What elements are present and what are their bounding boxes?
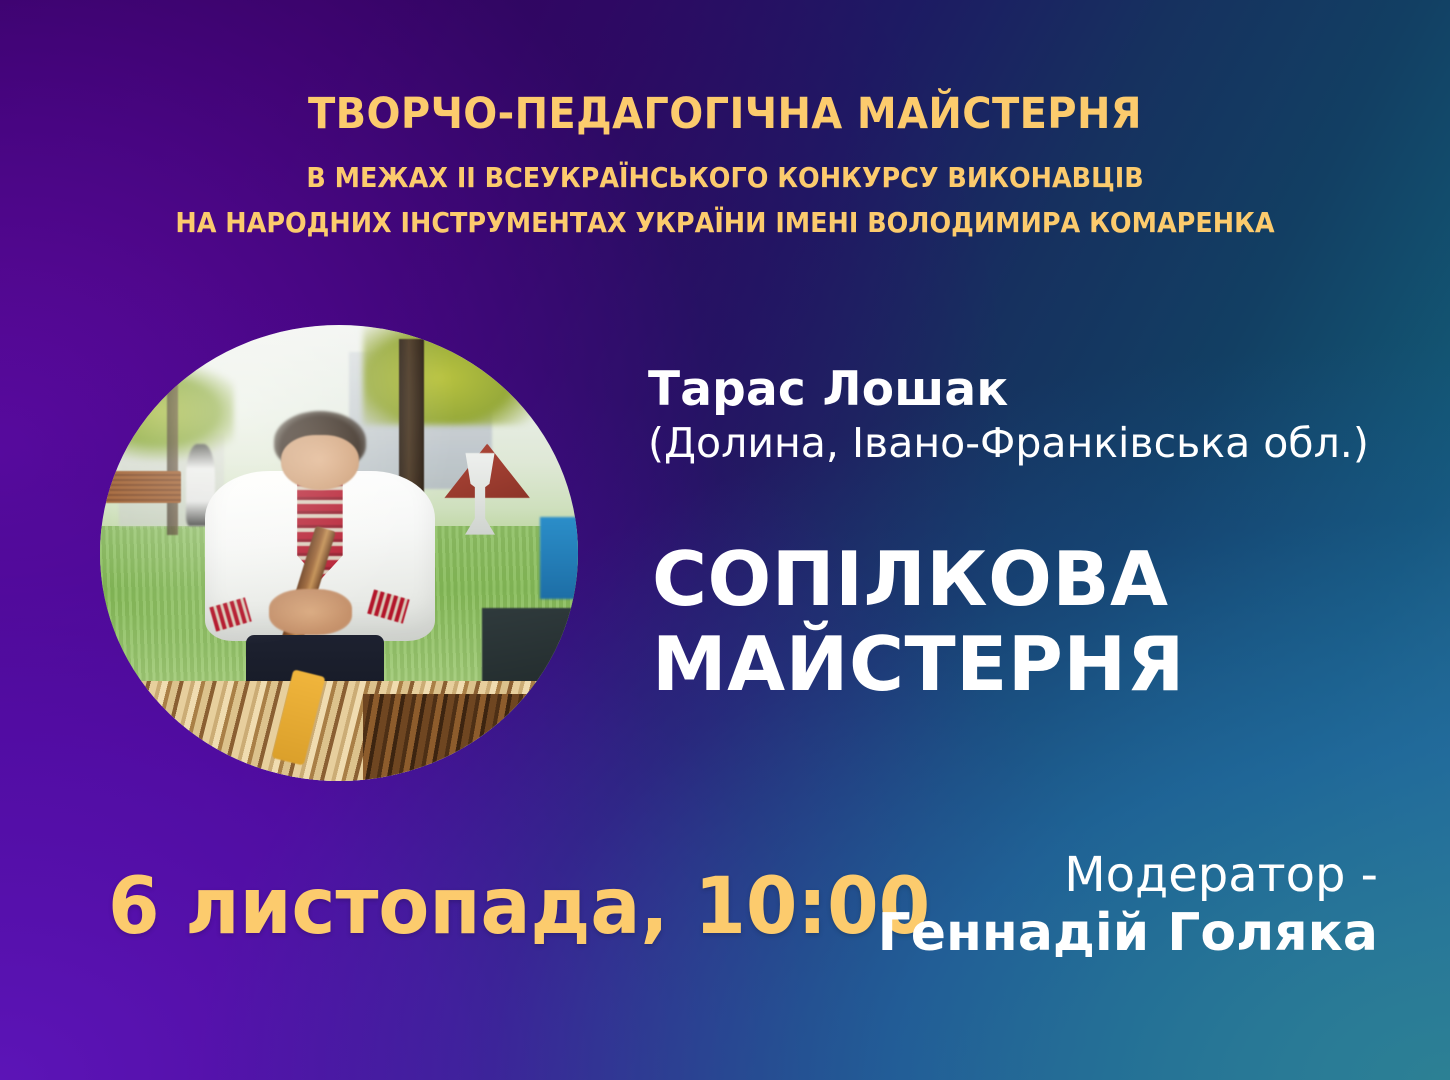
event-poster: ТВОРЧО-ПЕДАГОГІЧНА МАЙСТЕРНЯ В МЕЖАХ ІІ … <box>0 0 1450 1080</box>
workshop-title: СОПІЛКОВА МАЙСТЕРНЯ <box>652 537 1412 707</box>
speaker-portrait <box>100 325 578 781</box>
speaker-city: (Долина, Івано-Франківська обл.) <box>648 422 1408 465</box>
moderator-name: Геннадій Голяка <box>878 904 1378 962</box>
photo-face <box>281 435 359 490</box>
speaker-name: Тарас Лошак <box>648 366 1408 413</box>
subtitle-line-2: НА НАРОДНИХ ІНСТРУМЕНТАХ УКРАЇНИ ІМЕНІ В… <box>120 206 1330 240</box>
moderator-label: Модератор - <box>878 850 1378 902</box>
workshop-title-line-2: МАЙСТЕРНЯ <box>652 622 1412 707</box>
photo-park-bench <box>105 471 181 503</box>
event-date-time: 6 листопада, 10:00 <box>108 862 930 952</box>
photo-musician <box>205 416 434 690</box>
photo-hands <box>269 589 352 636</box>
moderator-block: Модератор - Геннадій Голяка <box>878 850 1378 962</box>
page-title: ТВОРЧО-ПЕДАГОГІЧНА МАЙСТЕРНЯ <box>107 92 1344 137</box>
subtitle-line-1: В МЕЖАХ ІІ ВСЕУКРАЇНСЬКОГО КОНКУРСУ ВИКО… <box>120 161 1330 195</box>
photo-blue-tent <box>540 517 578 599</box>
photo-dark-sopilkas <box>363 694 578 781</box>
speaker-block: Тарас Лошак (Долина, Івано-Франківська о… <box>648 366 1408 465</box>
photo-tree-trunk-left <box>167 380 178 535</box>
workshop-title-line-1: СОПІЛКОВА <box>652 537 1412 622</box>
photo-foliage-right <box>363 325 554 425</box>
header-block: ТВОРЧО-ПЕДАГОГІЧНА МАЙСТЕРНЯ В МЕЖАХ ІІ … <box>0 92 1450 240</box>
